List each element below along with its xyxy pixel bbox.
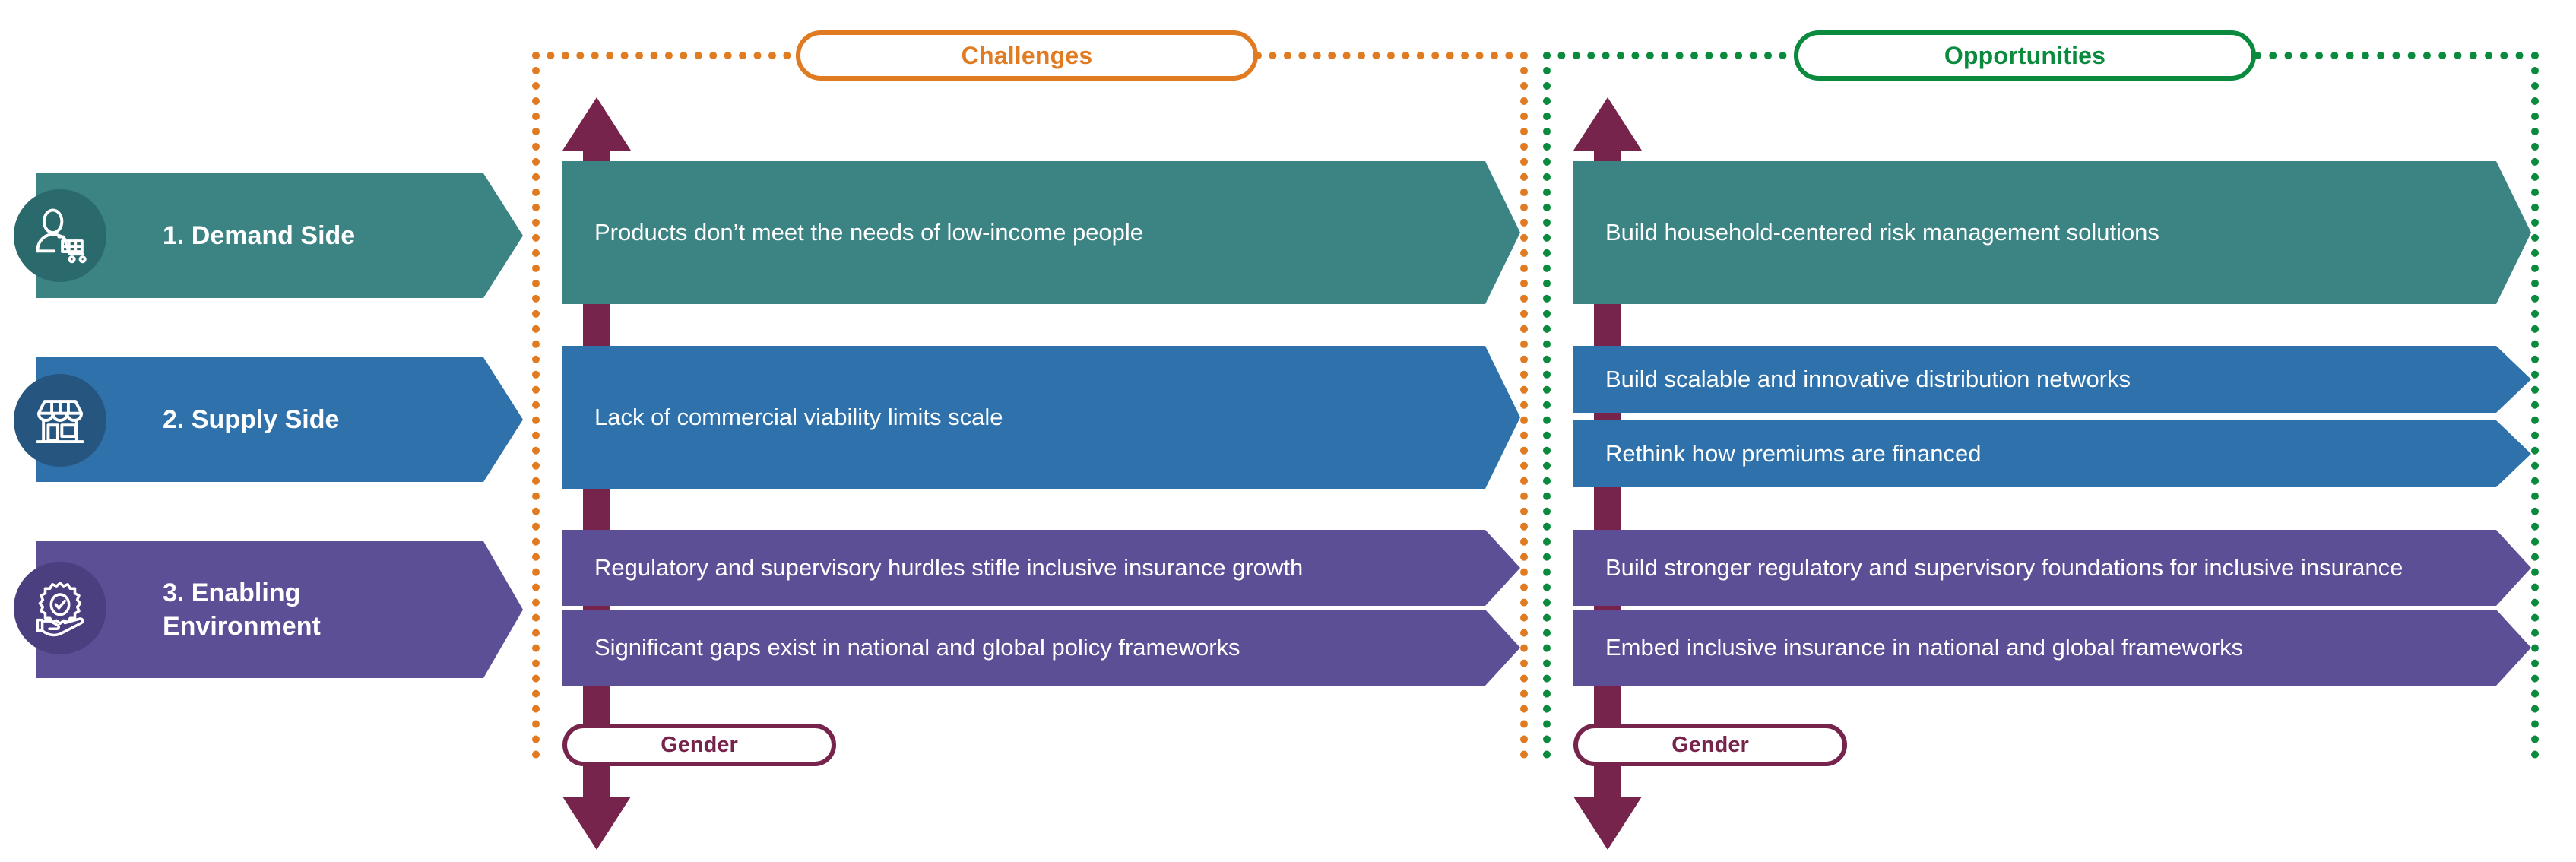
category-icon-circle-enabling-environment [14,562,106,654]
opportunity-block-demand-side[interactable]: Build household-centered risk management… [1573,161,2531,304]
opportunities-frame-top-left [1543,52,1801,67]
header-pill-opportunities[interactable]: Opportunities [1794,30,2256,81]
person-cart-icon [30,206,90,265]
challenges-frame-left [532,52,547,759]
category-label-demand-side: 1. Demand Side [163,219,355,252]
challenges-gender-pill[interactable]: Gender [562,724,836,766]
category-icon-circle-demand-side [14,189,106,282]
opportunity-text-enabling-1: Build stronger regulatory and supervisor… [1573,553,2494,582]
category-label-enabling-environment: 3. Enabling Environment [163,576,321,643]
challenges-frame-top-right [1254,52,1528,67]
category-label-supply-side: 2. Supply Side [163,403,339,436]
challenge-block-enabling-1[interactable]: Regulatory and supervisory hurdles stifl… [562,530,1520,606]
challenge-block-enabling-2[interactable]: Significant gaps exist in national and g… [562,610,1520,686]
challenges-gender-label: Gender [661,733,738,758]
challenge-text-demand-1: Products don’t meet the needs of low-inc… [562,218,1204,247]
category-icon-circle-supply-side [14,374,106,467]
infographic-canvas: Challenges Opportunities 1. Demand Side [0,0,2576,862]
header-label-opportunities: Opportunities [1944,42,2105,70]
challenge-block-demand-side[interactable]: Products don’t meet the needs of low-inc… [562,161,1520,304]
opportunities-gender-pill[interactable]: Gender [1573,724,1847,766]
opportunities-frame-top-right [2254,52,2539,67]
challenge-text-enabling-2: Significant gaps exist in national and g… [562,633,1332,662]
challenge-text-supply-1: Lack of commercial viability limits scal… [562,403,1063,432]
challenge-text-enabling-1: Regulatory and supervisory hurdles stifl… [562,553,1394,582]
challenge-block-supply-side[interactable]: Lack of commercial viability limits scal… [562,346,1520,489]
storefront-icon [30,391,90,450]
opportunity-block-enabling-2[interactable]: Embed inclusive insurance in national an… [1573,610,2531,686]
opportunity-text-supply-2: Rethink how premiums are financed [1573,439,2042,468]
opportunities-frame-right [2531,52,2546,759]
opportunities-frame-left [1543,52,1558,759]
opportunity-text-supply-1: Build scalable and innovative distributi… [1573,365,2191,394]
opportunity-block-supply-1[interactable]: Build scalable and innovative distributi… [1573,346,2531,413]
opportunities-gender-label: Gender [1671,733,1749,758]
opportunity-text-enabling-2: Embed inclusive insurance in national an… [1573,633,2334,662]
challenges-frame-top-left [532,52,806,67]
category-supply-side[interactable]: 2. Supply Side [36,357,523,482]
opportunity-text-demand-1: Build household-centered risk management… [1573,218,2220,247]
challenges-frame-right [1520,52,1535,759]
header-label-challenges: Challenges [962,42,1093,70]
opportunity-block-supply-2[interactable]: Rethink how premiums are financed [1573,420,2531,487]
gear-hand-icon [30,578,90,638]
opportunity-block-enabling-1[interactable]: Build stronger regulatory and supervisor… [1573,530,2531,606]
category-enabling-environment[interactable]: 3. Enabling Environment [36,541,523,678]
header-pill-challenges[interactable]: Challenges [796,30,1258,81]
category-demand-side[interactable]: 1. Demand Side [36,173,523,298]
